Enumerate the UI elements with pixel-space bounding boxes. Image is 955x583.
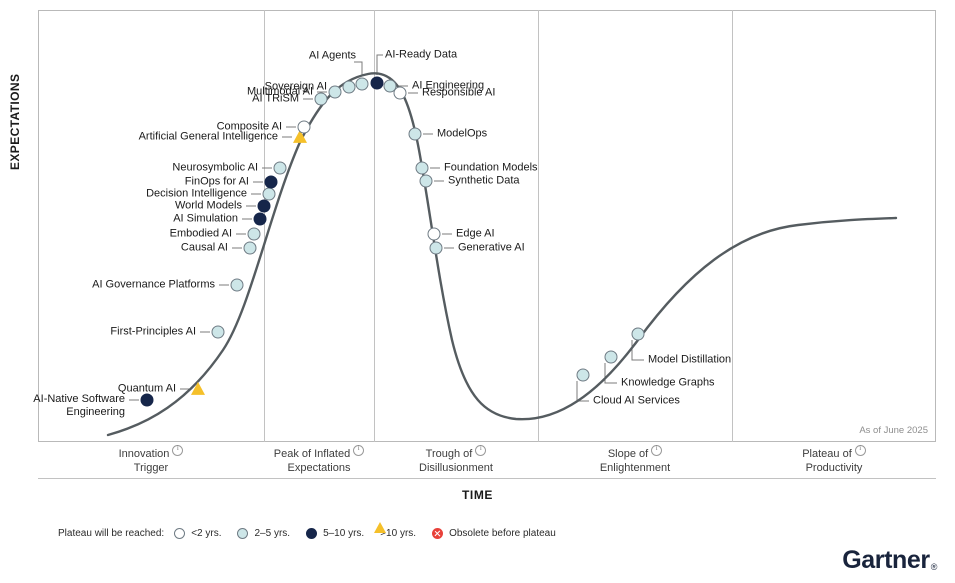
hype-point-marker[interactable] [231, 279, 244, 292]
hype-point-marker[interactable] [343, 81, 356, 94]
hype-point-marker[interactable] [191, 382, 205, 395]
hype-point-label: Model Distillation [648, 354, 731, 367]
hype-point-marker[interactable] [605, 351, 618, 364]
hype-point-label: AI Agents [309, 50, 356, 63]
hype-point-marker[interactable] [248, 228, 261, 241]
logo-text: Gartner [842, 546, 930, 574]
phase-label-4[interactable]: Slope ofEnlightenment [538, 445, 732, 475]
hype-point-label: First-Principles AI [110, 326, 196, 339]
phase-label-1[interactable]: InnovationTrigger [38, 445, 264, 475]
hype-point-marker[interactable] [244, 242, 257, 255]
hype-point-marker[interactable] [409, 128, 422, 141]
hype-point-marker[interactable] [254, 213, 267, 226]
circle-x-red-icon [432, 528, 443, 539]
hype-point-label: FinOps for AI [185, 176, 249, 189]
info-icon[interactable] [475, 445, 486, 456]
gartner-logo: Gartner® [842, 546, 937, 575]
info-icon[interactable] [855, 445, 866, 456]
hype-point-label: Synthetic Data [448, 175, 520, 188]
hype-point-label: Causal AI [181, 242, 228, 255]
phase-label-3[interactable]: Trough ofDisillusionment [374, 445, 538, 475]
hype-point-marker[interactable] [329, 86, 342, 99]
legend-item-1[interactable]: <2 yrs. [174, 528, 221, 539]
legend-item-label: 2–5 yrs. [254, 528, 290, 539]
x-axis-title: TIME [0, 488, 955, 502]
phase-axis: InnovationTriggerPeak of InflatedExpecta… [38, 443, 936, 485]
hype-curve [38, 10, 936, 442]
phase-label-line1: Peak of Inflated [274, 447, 350, 461]
circle-light-blue-icon [237, 528, 248, 539]
hype-point-marker[interactable] [428, 228, 441, 241]
legend-item-4[interactable]: >10 yrs. [380, 528, 416, 539]
phase-label-line2: Productivity [732, 461, 936, 475]
legend-item-label: 5–10 yrs. [323, 528, 364, 539]
phase-label-line1: Trough of [426, 447, 473, 461]
hype-point-label: World Models [175, 200, 242, 213]
hype-point-label: Edge AI [456, 228, 495, 241]
hype-point-label: Cloud AI Services [593, 395, 680, 408]
logo-registered-mark: ® [931, 562, 937, 572]
phase-label-line2: Disillusionment [374, 461, 538, 475]
legend-item-label: <2 yrs. [191, 528, 221, 539]
hype-point-marker[interactable] [212, 326, 225, 339]
legend-item-2[interactable]: 2–5 yrs. [237, 528, 290, 539]
hype-point-marker[interactable] [420, 175, 433, 188]
legend: Plateau will be reached: <2 yrs.2–5 yrs.… [58, 528, 572, 539]
hype-point-label: Responsible AI [422, 87, 495, 100]
hype-point-label: Quantum AI [118, 383, 176, 396]
info-icon[interactable] [172, 445, 183, 456]
hype-point-marker[interactable] [632, 328, 645, 341]
legend-item-5[interactable]: Obsolete before plateau [432, 528, 556, 539]
phase-label-5[interactable]: Plateau ofProductivity [732, 445, 936, 475]
phase-label-line2: Enlightenment [538, 461, 732, 475]
hype-point-label: Generative AI [458, 242, 525, 255]
hype-point-label: AI-Ready Data [385, 49, 457, 62]
hype-point-marker[interactable] [265, 176, 278, 189]
plot-area: AI-Native SoftwareEngineeringQuantum AIF… [38, 10, 936, 442]
phase-axis-rule [38, 478, 936, 479]
y-axis-title: EXPECTATIONS [8, 74, 22, 170]
phase-label-line2: Expectations [264, 461, 374, 475]
hype-point-marker[interactable] [577, 369, 590, 382]
hype-point-marker[interactable] [430, 242, 443, 255]
hype-cycle-chart: EXPECTATIONS AI-Native SoftwareEngineeri… [0, 0, 955, 583]
hype-point-label: AI Governance Platforms [92, 279, 215, 292]
hype-point-marker[interactable] [356, 78, 369, 91]
legend-title: Plateau will be reached: [58, 528, 164, 539]
hype-point-marker[interactable] [263, 188, 276, 201]
hype-point-label: Neurosymbolic AI [172, 162, 258, 175]
hype-point-label: Decision Intelligence [146, 188, 247, 201]
triangle-yellow-icon [374, 522, 386, 533]
phase-label-2[interactable]: Peak of InflatedExpectations [264, 445, 374, 475]
hype-point-marker[interactable] [274, 162, 287, 175]
hype-point-marker[interactable] [258, 200, 271, 213]
hype-point-label: Composite AI [217, 121, 282, 134]
phase-label-line1: Innovation [119, 447, 170, 461]
hype-point-marker[interactable] [298, 121, 311, 134]
hype-point-marker[interactable] [416, 162, 429, 175]
hype-point-label: AI-Native SoftwareEngineering [33, 393, 125, 419]
hype-point-marker[interactable] [371, 77, 384, 90]
phase-label-line1: Slope of [608, 447, 648, 461]
hype-point-label: Embodied AI [170, 228, 232, 241]
circle-white-icon [174, 528, 185, 539]
legend-item-label: Obsolete before plateau [449, 528, 556, 539]
hype-point-label: AI Simulation [173, 213, 238, 226]
hype-point-label: Knowledge Graphs [621, 377, 715, 390]
hype-point-label: ModelOps [437, 128, 487, 141]
legend-item-3[interactable]: 5–10 yrs. [306, 528, 364, 539]
hype-point-label: Sovereign AI [265, 81, 327, 94]
as-of-date: As of June 2025 [859, 425, 928, 436]
info-icon[interactable] [651, 445, 662, 456]
hype-point-marker[interactable] [315, 93, 328, 106]
phase-label-line2: Trigger [38, 461, 264, 475]
info-icon[interactable] [353, 445, 364, 456]
hype-point-label: Foundation Models [444, 162, 538, 175]
hype-point-marker[interactable] [394, 87, 407, 100]
phase-label-line1: Plateau of [802, 447, 852, 461]
circle-navy-icon [306, 528, 317, 539]
